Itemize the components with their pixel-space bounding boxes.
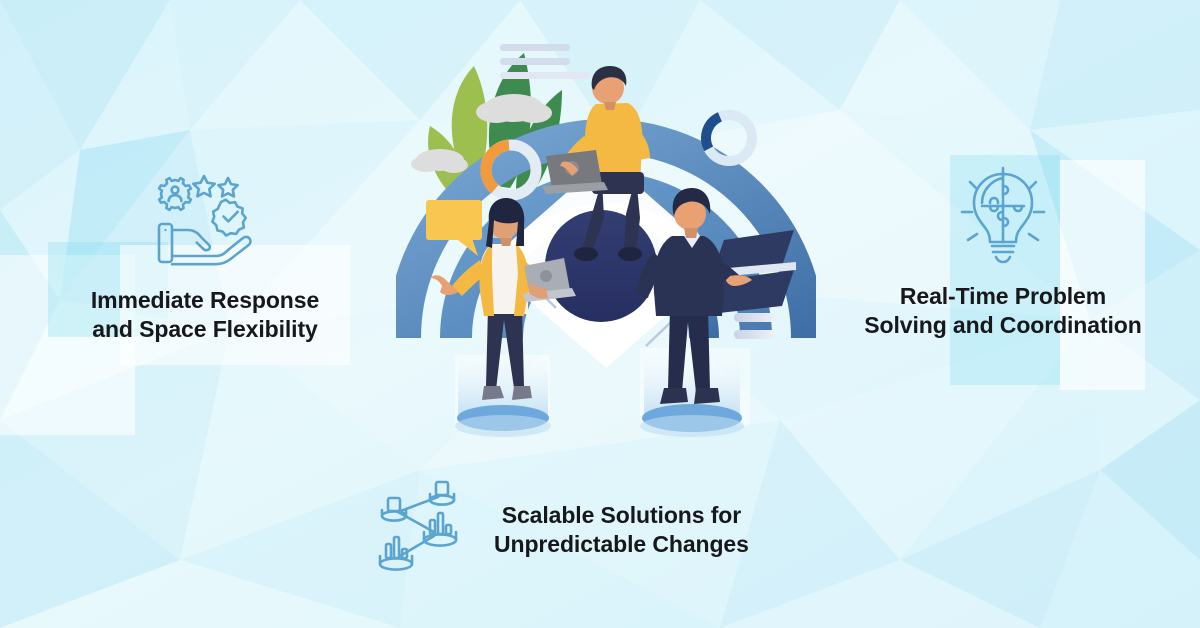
feature-scalable-solutions[interactable]: Scalable Solutions for Unpredictable Cha… — [372, 480, 802, 580]
list-lines-top — [500, 44, 590, 79]
hero-illustration — [396, 8, 816, 448]
feature-real-time-problem-solving[interactable]: Real-Time Problem Solving and Coordinati… — [838, 158, 1168, 341]
puzzle-lightbulb-icon — [948, 158, 1058, 268]
hand-holding-gear-stars-badge-icon — [145, 168, 265, 268]
feature-label: Real-Time Problem Solving and Coordinati… — [864, 282, 1141, 341]
infographic-canvas: Immediate Response and Space Flexibility — [0, 0, 1200, 628]
network-scalability-nodes-icon — [372, 480, 472, 580]
feature-label: Scalable Solutions for Unpredictable Cha… — [494, 501, 749, 560]
feature-immediate-response[interactable]: Immediate Response and Space Flexibility — [40, 168, 370, 345]
feature-label: Immediate Response and Space Flexibility — [91, 286, 319, 345]
